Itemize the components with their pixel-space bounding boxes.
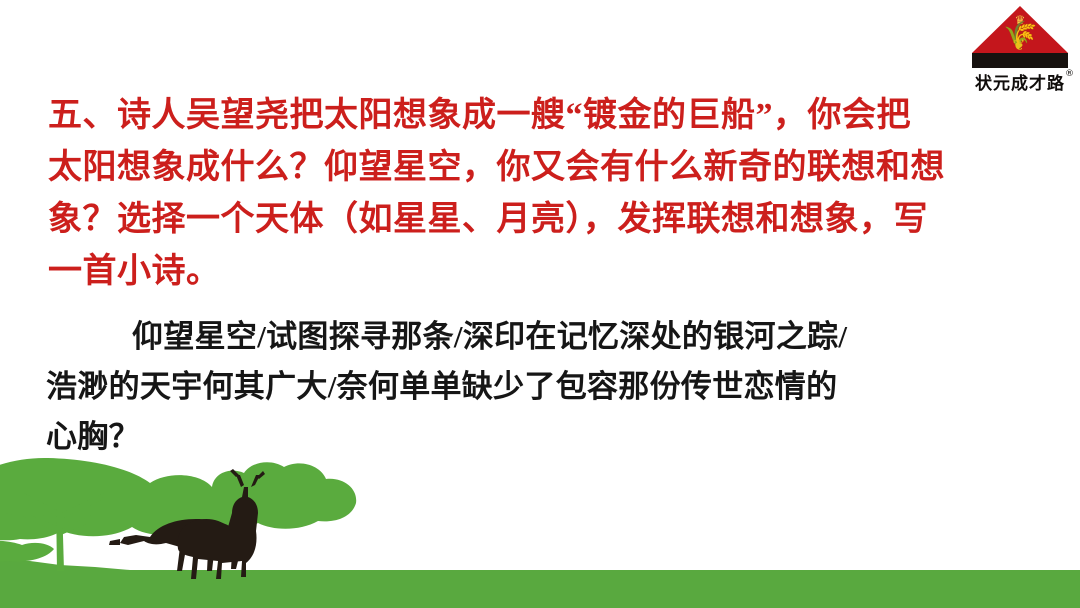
question-line-3: 象？选择一个天体（如星星、月亮），发挥联想和想象，写 — [48, 194, 1008, 246]
acacia-tree — [0, 458, 356, 571]
question-line-1: 五、诗人吴望尧把太阳想象成一艘“镀金的巨船”，你会把 — [48, 90, 1008, 142]
logo-triangle-mark: ♛ 🌾 ❦ — [972, 6, 1068, 68]
laurel-wreath-icon: ❦ — [972, 36, 1068, 55]
question-text-block: 五、诗人吴望尧把太阳想象成一艘“镀金的巨船”，你会把 太阳想象成什么？仰望星空，… — [48, 90, 1008, 298]
question-line-2: 太阳想象成什么？仰望星空，你又会有什么新奇的联想和想 — [48, 142, 1008, 194]
grass-strip — [0, 561, 1080, 608]
registered-trademark-icon: ® — [1065, 69, 1074, 79]
sample-poem-block: 仰望星空/试图探寻那条/深印在记忆深处的银河之踪/ 浩渺的天宇何其广大/奈何单单… — [46, 312, 1011, 462]
scenery-decoration — [0, 453, 1080, 608]
poem-line-2: 浩渺的天宇何其广大/奈何单单缺少了包容那份传世恋情的 — [46, 362, 1011, 412]
logo-triangle-black — [972, 53, 1068, 68]
slide-canvas: ♛ 🌾 ❦ 状元成才路 ® 五、诗人吴望尧把太阳想象成一艘“镀金的巨船”，你会把… — [0, 0, 1080, 608]
brand-logo: ♛ 🌾 ❦ 状元成才路 ® — [968, 6, 1072, 92]
question-line-4: 一首小诗。 — [48, 246, 1008, 298]
poem-line-1: 仰望星空/试图探寻那条/深印在记忆深处的银河之踪/ — [46, 312, 1011, 362]
